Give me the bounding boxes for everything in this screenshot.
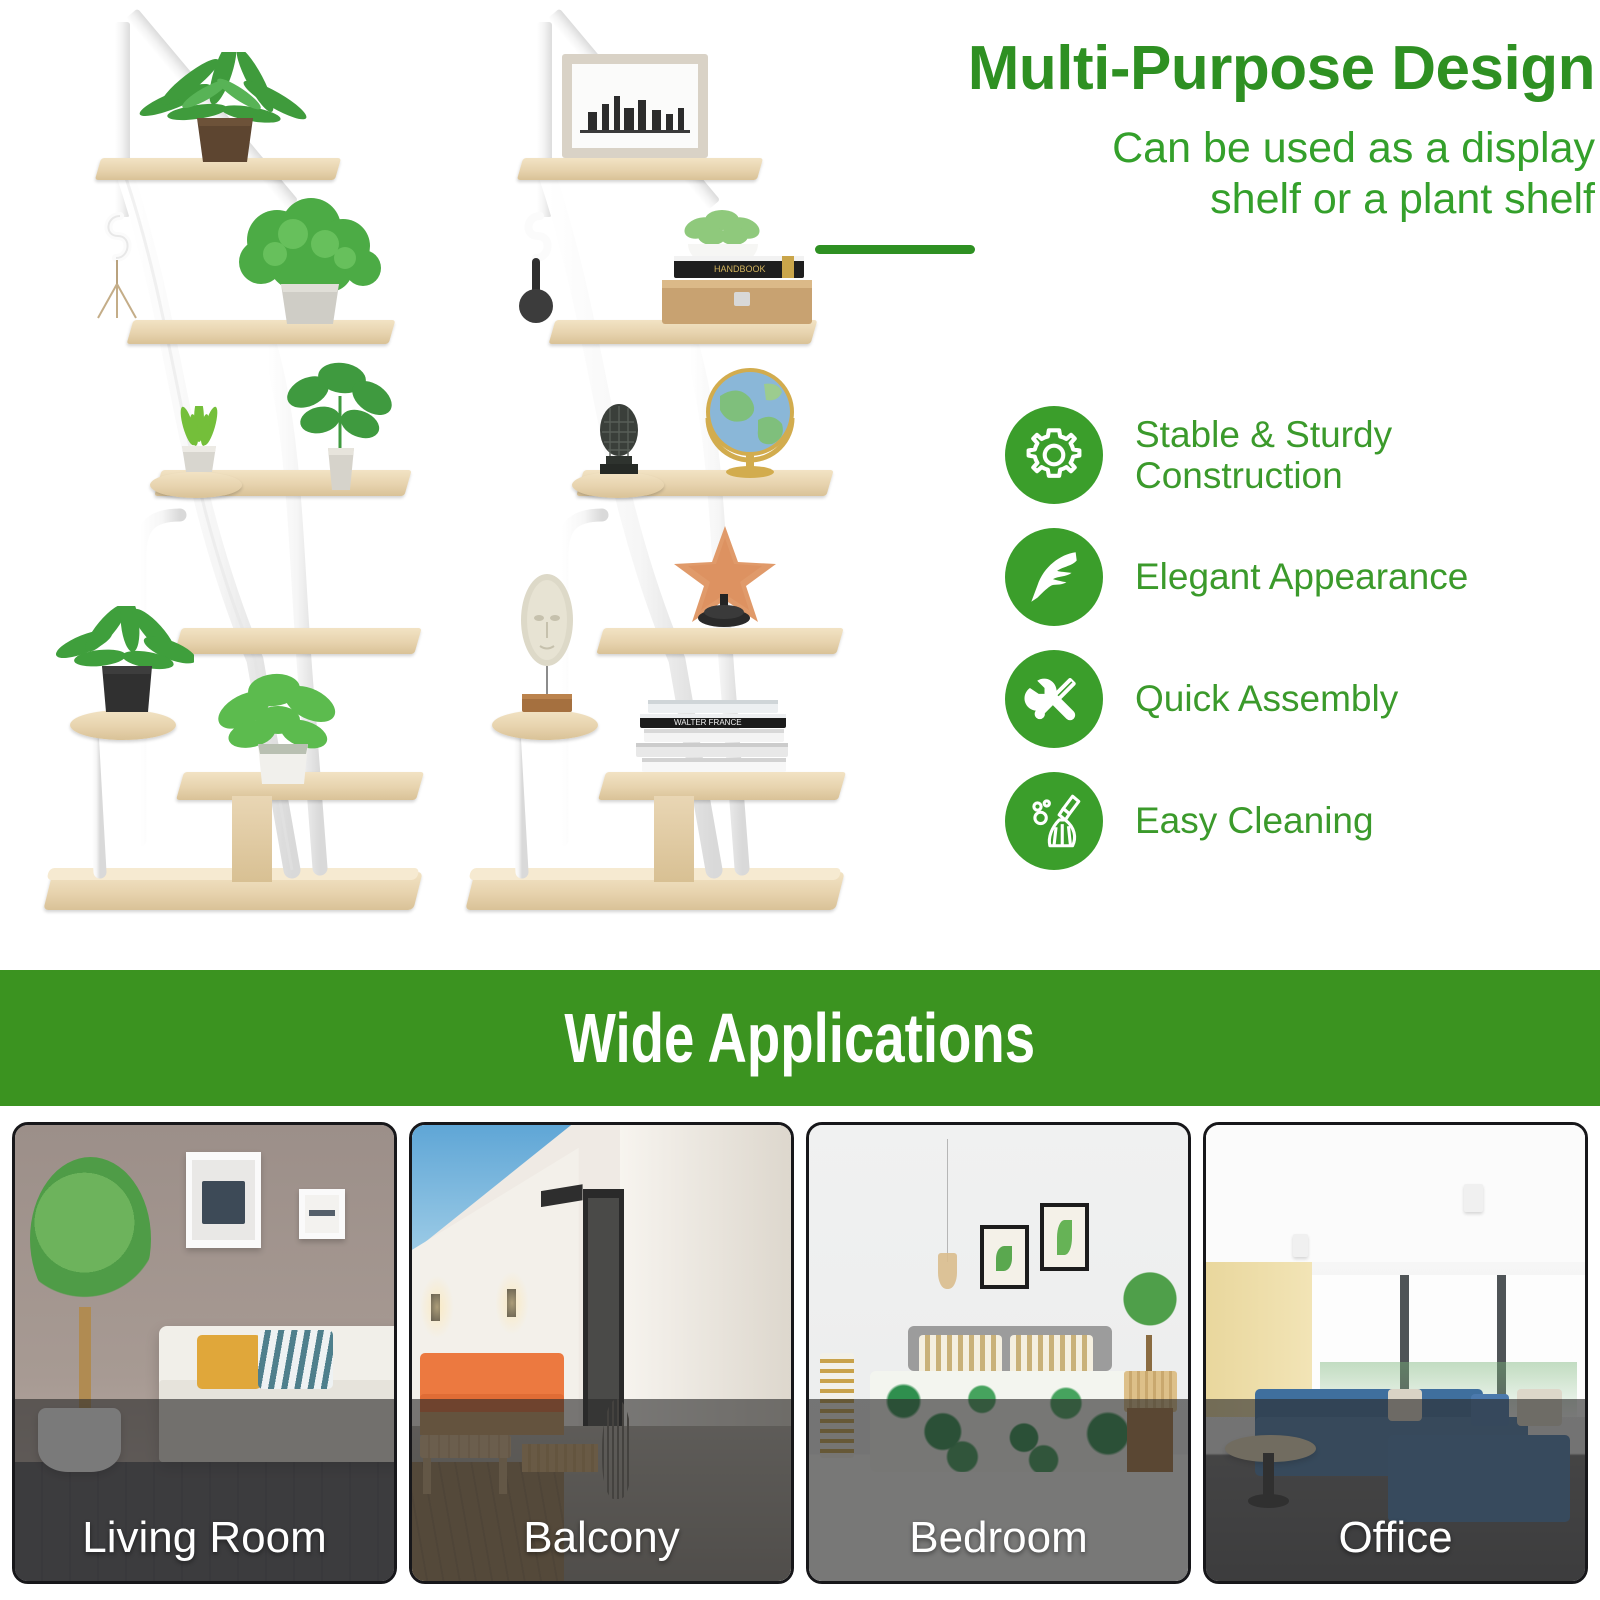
- feature-label: Easy Cleaning: [1135, 800, 1374, 841]
- wall-frame-left: [980, 1225, 1029, 1289]
- shelf-center-support: [232, 796, 272, 882]
- feature-label: Stable & Sturdy Construction: [1135, 414, 1392, 497]
- feature-item-elegant-appearance: Elegant Appearance: [1005, 527, 1595, 627]
- feature-item-easy-cleaning: Easy Cleaning: [1005, 771, 1595, 871]
- side-potted-plant: [1120, 1262, 1181, 1344]
- pillow-striped: [258, 1330, 334, 1389]
- page-title: Multi-Purpose Design: [755, 36, 1595, 101]
- decor-starfish: [670, 520, 780, 632]
- shelf-center-support: [654, 796, 694, 882]
- feature-list: Stable & Sturdy Construction Elegant App…: [1005, 405, 1595, 893]
- wall-frame-large: [186, 1152, 262, 1248]
- tile-label: Bedroom: [809, 1513, 1188, 1563]
- svg-text:WALTER FRANCE: WALTER FRANCE: [674, 718, 742, 727]
- feature-label: Quick Assembly: [1135, 678, 1398, 719]
- tools-icon: [1005, 650, 1103, 748]
- wall-frame-right: [1040, 1203, 1089, 1271]
- potted-tree: [30, 1157, 151, 1321]
- application-tile-office[interactable]: Office: [1203, 1122, 1588, 1584]
- decor-picture-frame: [560, 52, 710, 162]
- pendant-lamp: [938, 1253, 957, 1289]
- decor-pinecone-finial: [582, 402, 656, 476]
- wide-applications-title: Wide Applications: [565, 998, 1036, 1078]
- plant-peace-lily: [208, 668, 358, 788]
- application-tile-living-room[interactable]: Living Room: [12, 1122, 397, 1584]
- wide-applications-banner: Wide Applications: [0, 970, 1600, 1106]
- decor-globe: [690, 360, 810, 478]
- application-tile-bedroom[interactable]: Bedroom: [806, 1122, 1191, 1584]
- tile-label: Balcony: [412, 1513, 791, 1563]
- product-infographic: HANDBOOK: [0, 0, 1600, 1600]
- headline-block: Multi-Purpose Design Can be used as a di…: [755, 36, 1595, 254]
- broom-icon: [1005, 772, 1103, 870]
- feature-item-quick-assembly: Quick Assembly: [1005, 649, 1595, 749]
- pillow-yellow: [197, 1335, 261, 1390]
- plant-snake-small: [166, 406, 232, 476]
- feature-label: Elegant Appearance: [1135, 556, 1468, 597]
- feature-item-stable-sturdy: Stable & Sturdy Construction: [1005, 405, 1595, 505]
- top-section: HANDBOOK: [0, 0, 1600, 968]
- tile-label: Living Room: [15, 1513, 394, 1563]
- hanging-hook-icon: [512, 206, 582, 326]
- tile-label: Office: [1206, 1513, 1585, 1563]
- title-divider: [815, 245, 975, 254]
- svg-text:HANDBOOK: HANDBOOK: [714, 264, 766, 274]
- hanging-hook-icon: [92, 206, 162, 336]
- gear-icon: [1005, 406, 1103, 504]
- decor-book-stack: WALTER FRANCE: [626, 696, 806, 782]
- application-tiles: Living Room: [0, 1122, 1600, 1592]
- application-tile-balcony[interactable]: Balcony: [409, 1122, 794, 1584]
- ceiling-light-2: [1464, 1184, 1483, 1211]
- plant-bush-grey-pot: [215, 192, 400, 327]
- subtitle-line-2: shelf or a plant shelf: [755, 174, 1595, 225]
- plant-fern-black-pot: [54, 606, 194, 718]
- feather-icon: [1005, 528, 1103, 626]
- plant-fern-top: [135, 52, 315, 167]
- ceiling-light-1: [1293, 1234, 1308, 1257]
- shelf-board-4: [174, 628, 421, 654]
- plant-monstera-vase: [280, 362, 400, 492]
- decor-face-sculpture: [500, 570, 594, 722]
- wall-frame-small: [299, 1189, 344, 1239]
- product-plant-shelf: [30, 10, 450, 935]
- subtitle-line-1: Can be used as a display: [755, 123, 1595, 174]
- page-subtitle: Can be used as a display shelf or a plan…: [755, 123, 1595, 224]
